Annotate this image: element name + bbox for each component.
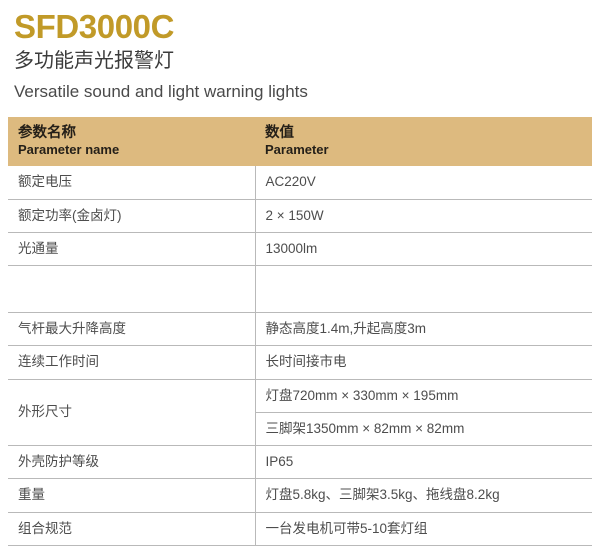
table-row: 气杆最大升降高度 静态高度1.4m,升起高度3m xyxy=(8,313,592,346)
column-header-parameter-name-en: Parameter name xyxy=(18,142,255,158)
table-row: 外壳防护等级 IP65 xyxy=(8,446,592,479)
column-header-parameter-value-en: Parameter xyxy=(265,142,592,158)
subtitle-english: Versatile sound and light warning lights xyxy=(14,81,600,103)
table-row: 连续工作时间 长时间接市电 xyxy=(8,346,592,379)
cell-parameter-value: 灯盘720mm × 330mm × 195mm xyxy=(255,379,592,412)
column-header-parameter-name: 参数名称 Parameter name xyxy=(8,117,255,166)
page-title: SFD3000C xyxy=(14,10,600,45)
column-header-parameter-name-cn: 参数名称 xyxy=(18,124,255,142)
cell-parameter-name: 光通量 xyxy=(8,232,255,265)
cell-parameter-name: 组合规范 xyxy=(8,512,255,545)
table-row: 组合规范 一台发电机可带5-10套灯组 xyxy=(8,512,592,545)
cell-parameter-value: 灯盘5.8kg、三脚架3.5kg、拖线盘8.2kg xyxy=(255,479,592,512)
cell-parameter-value: 静态高度1.4m,升起高度3m xyxy=(255,313,592,346)
cell-parameter-value: 一台发电机可带5-10套灯组 xyxy=(255,512,592,545)
cell-parameter-name: 气杆最大升降高度 xyxy=(8,313,255,346)
table-row: 光通量 13000lm xyxy=(8,232,592,265)
cell-parameter-value: 三脚架1350mm × 82mm × 82mm xyxy=(255,412,592,445)
cell-parameter-value: IP65 xyxy=(255,446,592,479)
cell-parameter-value: 长时间接市电 xyxy=(255,346,592,379)
cell-parameter-value: 13000lm xyxy=(255,232,592,265)
cell-parameter-name: 额定电压 xyxy=(8,166,255,199)
heading-block: SFD3000C 多功能声光报警灯 Versatile sound and li… xyxy=(0,0,600,103)
cell-parameter-value: 2 × 150W xyxy=(255,199,592,232)
cell-parameter-name: 额定功率(金卤灯) xyxy=(8,199,255,232)
column-header-parameter-value-cn: 数值 xyxy=(265,124,592,142)
table-header-row: 参数名称 Parameter name 数值 Parameter xyxy=(8,117,592,166)
cell-parameter-name: 连续工作时间 xyxy=(8,346,255,379)
spec-table-container: 参数名称 Parameter name 数值 Parameter 额定电压 AC… xyxy=(8,117,592,546)
cell-parameter-name xyxy=(8,266,255,313)
table-row: 重量 灯盘5.8kg、三脚架3.5kg、拖线盘8.2kg xyxy=(8,479,592,512)
table-row-blank xyxy=(8,266,592,313)
table-body: 额定电压 AC220V 额定功率(金卤灯) 2 × 150W 光通量 13000… xyxy=(8,166,592,545)
specification-table: 参数名称 Parameter name 数值 Parameter 额定电压 AC… xyxy=(8,117,592,546)
column-header-parameter-value: 数值 Parameter xyxy=(255,117,592,166)
cell-parameter-value xyxy=(255,266,592,313)
cell-parameter-name: 外壳防护等级 xyxy=(8,446,255,479)
cell-parameter-name: 重量 xyxy=(8,479,255,512)
product-spec-sheet: SFD3000C 多功能声光报警灯 Versatile sound and li… xyxy=(0,0,600,513)
table-row: 外形尺寸 灯盘720mm × 330mm × 195mm xyxy=(8,379,592,412)
cell-parameter-name: 外形尺寸 xyxy=(8,379,255,446)
subtitle-chinese: 多功能声光报警灯 xyxy=(14,48,600,75)
table-row: 额定电压 AC220V xyxy=(8,166,592,199)
table-row: 额定功率(金卤灯) 2 × 150W xyxy=(8,199,592,232)
table-header: 参数名称 Parameter name 数值 Parameter xyxy=(8,117,592,166)
cell-parameter-value: AC220V xyxy=(255,166,592,199)
